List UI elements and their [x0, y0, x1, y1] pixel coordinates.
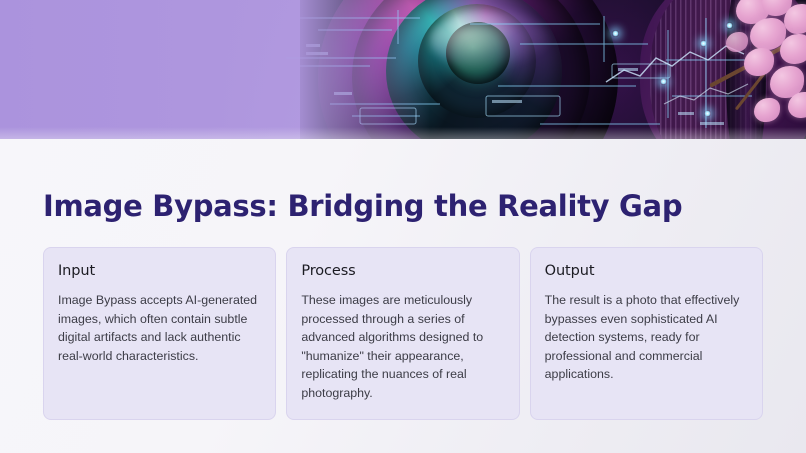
hud-glow-dot [660, 78, 667, 85]
card-title: Input [58, 263, 261, 279]
card-output: Output The result is a photo that effect… [530, 247, 763, 420]
feature-card-grid: Input Image Bypass accepts AI-generated … [43, 247, 763, 420]
card-process: Process These images are meticulously pr… [286, 247, 519, 420]
card-body: Image Bypass accepts AI-generated images… [58, 291, 261, 365]
page-content: Image Bypass: Bridging the Reality Gap I… [0, 189, 806, 420]
card-title: Output [545, 263, 748, 279]
page-title: Image Bypass: Bridging the Reality Gap [43, 189, 763, 223]
card-body: The result is a photo that effectively b… [545, 291, 748, 384]
hero-banner [0, 0, 806, 139]
hud-glow-dot [612, 30, 619, 37]
card-title: Process [301, 263, 504, 279]
hero-gradient-overlay [0, 0, 430, 139]
lens-glint [430, 10, 550, 70]
hero-bottom-fade [0, 127, 806, 139]
card-body: These images are meticulously processed … [301, 291, 504, 403]
card-input: Input Image Bypass accepts AI-generated … [43, 247, 276, 420]
cherry-blossom-cluster [692, 0, 806, 139]
